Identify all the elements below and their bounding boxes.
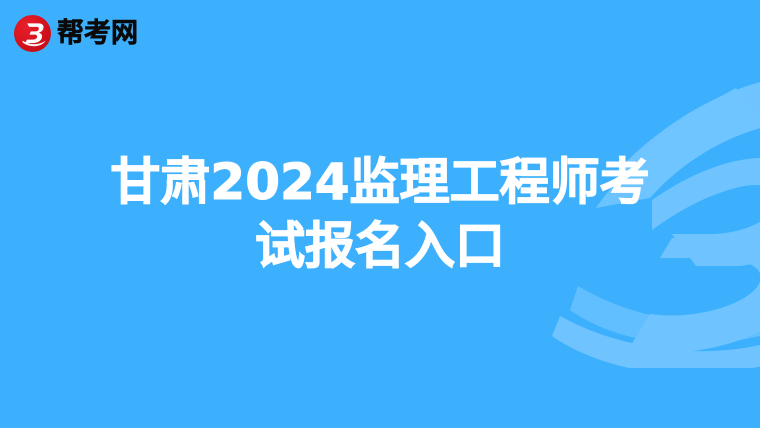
headline-line-2: 试报名入口 [0, 214, 760, 278]
promo-banner: 帮考网 甘肃2024监理工程师考 试报名入口 [0, 0, 760, 428]
banner-headline: 甘肃2024监理工程师考 试报名入口 [0, 150, 760, 278]
bangkao-b-logo-icon [14, 15, 51, 52]
site-logo-wordmark: 帮考网 [57, 20, 138, 47]
site-logo[interactable]: 帮考网 [14, 14, 138, 52]
headline-line-1: 甘肃2024监理工程师考 [0, 150, 760, 214]
